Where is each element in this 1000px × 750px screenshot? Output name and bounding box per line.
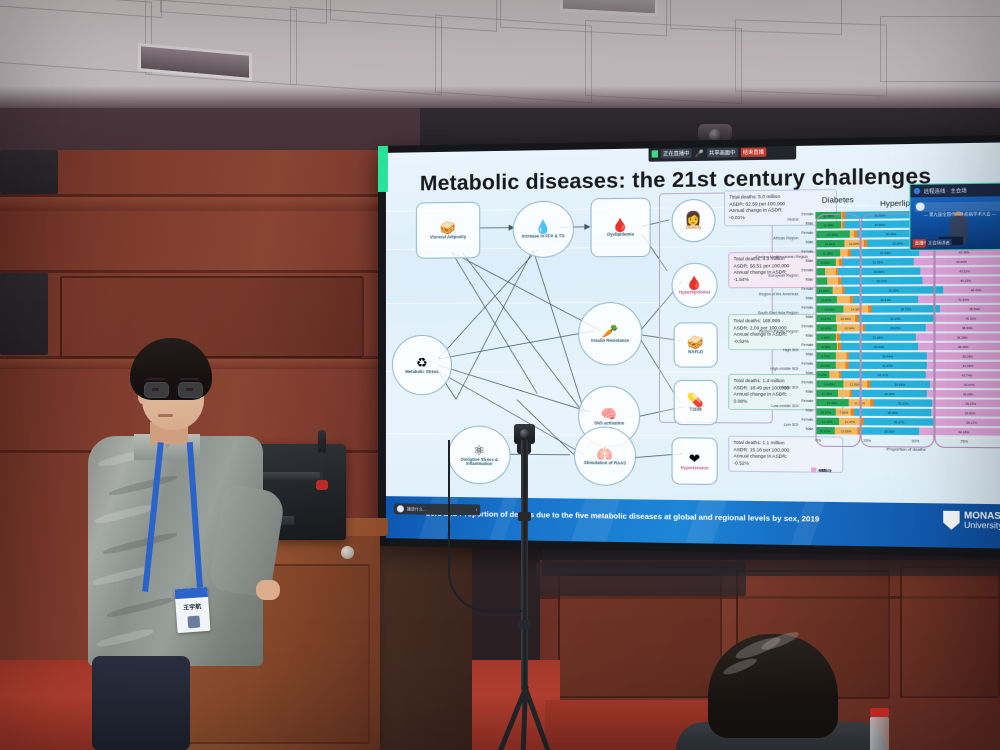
chart-bar-segment-hld: 28.25% bbox=[865, 324, 925, 332]
chart-row-label-sex: Female bbox=[802, 418, 814, 422]
chart-bar-segment-nafld: 12.05% bbox=[843, 380, 866, 388]
chart-bar-segment-obesity: 40.07% bbox=[930, 381, 1000, 389]
chart-row-label-sex: Female bbox=[802, 268, 814, 272]
chart-group-label: Western Pacific Region bbox=[756, 329, 799, 333]
chart-bar-segment-hld: 38.06% bbox=[854, 409, 931, 417]
chart-bar-segment-obesity: 46.43% bbox=[943, 286, 1000, 294]
chart-bar-segment-obesity: 42.74% bbox=[925, 371, 1000, 379]
pip-video-window[interactable]: 远程连线 · 主会场 — 第九届全国代谢性疾病学术大会 — 直播中 主会场讲者 bbox=[909, 182, 1000, 250]
chart-bar-segment-nafld bbox=[829, 371, 839, 379]
chart-bar-segment-dm: 12.24% bbox=[815, 287, 832, 295]
chart-row-label-sex: Female bbox=[802, 287, 814, 291]
chart-row-label-sex: Female bbox=[802, 306, 814, 310]
chart-bar-segment-nafld: 11.31% bbox=[849, 399, 871, 407]
chart-row-label-sex: Female bbox=[802, 343, 814, 347]
chart-row-label-sex: Female bbox=[802, 231, 814, 235]
wall-board-left-2 bbox=[0, 273, 48, 355]
chart-bar-segment-nafld: 11.47% bbox=[839, 418, 861, 426]
chart-bar-segment-obesity: 43.52% bbox=[920, 267, 1000, 275]
chart-bar-segment-hld: 36.25% bbox=[852, 390, 927, 398]
tripod-pole bbox=[521, 440, 528, 690]
outcome-node-hyperlipidemia: 🩸 Hyperlipidemia bbox=[672, 263, 718, 308]
chart-bar-segment-hld: 32.44% bbox=[841, 343, 918, 351]
chart-bar-segment-dm: 14.43% bbox=[815, 380, 843, 388]
chart-bar-row: 16.04%14.36%38.73%38.59%Female bbox=[815, 305, 1000, 313]
chart-group-label: High-middle SDI bbox=[756, 367, 799, 371]
screen-edge-glow bbox=[378, 146, 388, 192]
outcome-node-nafld: 🥪 NAFLD bbox=[674, 322, 718, 367]
chart-x-tick: 25% bbox=[863, 439, 871, 443]
chart-bar-segment-nafld: 10.35% bbox=[836, 315, 855, 323]
mic-icon[interactable]: 🎤 bbox=[695, 149, 704, 157]
microphone-base bbox=[316, 480, 328, 490]
chart-row-label-sex: Female bbox=[802, 249, 814, 253]
water-bottle bbox=[870, 716, 889, 750]
chart-row-label-sex: Male bbox=[806, 296, 814, 300]
chart-bar-segment-dm: 9.75% bbox=[815, 352, 836, 360]
outcome-node-obesity: 👩 Obesity bbox=[672, 199, 716, 243]
chart-row-label-sex: Male bbox=[806, 315, 814, 319]
chart-bar-segment-dm: 10.07% bbox=[815, 296, 837, 304]
end-stream-button[interactable]: 结束直播 bbox=[741, 147, 766, 157]
chart-bar-segment-nafld: 12.04% bbox=[837, 324, 863, 332]
legend-swatch bbox=[811, 467, 816, 472]
chart-bar-segment-dm bbox=[815, 277, 827, 285]
chart-column-title-diabetes: Diabetes bbox=[822, 195, 854, 205]
kidney-lung-icon: 🫁 bbox=[597, 447, 614, 460]
chart-bar-segment-obesity: 38.17% bbox=[934, 418, 1000, 426]
chart-bar-segment-dm: 11.23% bbox=[815, 390, 838, 398]
pip-status-dot bbox=[914, 188, 921, 194]
tripod-cable bbox=[448, 440, 522, 612]
chart-bar-segment-obesity: 38.59% bbox=[940, 305, 1000, 313]
chart-bar-segment-dm: 9.18% bbox=[815, 343, 836, 351]
pip-video-feed: — 第九届全国代谢性疾病学术大会 — 直播中 主会场讲者 bbox=[910, 196, 1000, 250]
chart-bar-segment-obesity: 38.05% bbox=[931, 409, 1000, 417]
chart-bar-segment-hld: 31.28% bbox=[840, 333, 915, 341]
chart-bar-segment-dm: 11.44% bbox=[815, 221, 841, 229]
chart-group-label: Low SDI bbox=[756, 422, 799, 426]
chart-bar-segment-obesity: 39.09% bbox=[927, 390, 1000, 398]
ceiling bbox=[0, 0, 1000, 118]
wall-board-left bbox=[0, 150, 58, 194]
chart-group-label: Middle SDI bbox=[756, 385, 799, 389]
monash-shield-icon bbox=[943, 511, 959, 530]
chart-row-label-sex: Male bbox=[806, 240, 814, 244]
metabolism-cycle-icon: ♻ bbox=[416, 356, 428, 369]
chart-bar-segment-nafld bbox=[836, 362, 846, 370]
fat-cell-icon: 🥪 bbox=[440, 221, 456, 234]
play-icon[interactable] bbox=[397, 505, 404, 512]
chart-bar-segment-obesity: 38.29% bbox=[918, 343, 1000, 351]
stream-status-chip: 正在直播中 bbox=[661, 149, 691, 159]
chart-bar-segment-hld: 43.47% bbox=[841, 371, 925, 379]
chart-bar-segment-dm: 10.64% bbox=[815, 362, 835, 370]
artery-plaque-icon: 🩸 bbox=[612, 218, 629, 231]
audience-member bbox=[698, 634, 928, 750]
pip-titlebar: 远程连线 · 主会场 bbox=[910, 183, 1000, 197]
monash-logo: MONASH University bbox=[943, 511, 1000, 531]
chart-row-label-sex: Male bbox=[806, 408, 814, 412]
chart-group-label: Eastern Mediterranean Region bbox=[756, 255, 799, 259]
chart-row-label-sex: Female bbox=[802, 324, 814, 328]
chart-x-tick: 50% bbox=[912, 439, 920, 443]
chart-bar-segment-dm: 10.37% bbox=[815, 408, 836, 416]
chart-row-label-sex: Male bbox=[806, 390, 814, 394]
chart-bar-segment-hld: 30.55% bbox=[845, 220, 915, 228]
chart-bar-segment-dm: 10.09% bbox=[815, 324, 836, 332]
diagram-node-dyslipidemia: 🩸 Dyslipidemia bbox=[591, 198, 651, 258]
chart-bar-segment-obesity: 38.59% bbox=[926, 324, 1000, 332]
chart-bar-row: 9.75%36.44%38.28%Male bbox=[815, 352, 1000, 360]
chart-bar-segment-dm: 11.38% bbox=[815, 249, 840, 257]
chart-bar-row: 40.84%43.52%Female bbox=[815, 267, 1000, 276]
chart-bar-segment-dm bbox=[815, 268, 825, 276]
diagram-node-metabolic-stress: ♻ Metabolic Stress bbox=[392, 335, 452, 395]
presenter-legs bbox=[92, 656, 190, 750]
artery-fat-icon: 🩸 bbox=[686, 276, 703, 289]
insulin-vial-icon: 💊 bbox=[687, 393, 704, 406]
badge-name: 王宇航 bbox=[175, 601, 209, 612]
chart-bar-segment-obesity: 42.48% bbox=[927, 362, 1000, 370]
pip-event-banner: — 第九届全国代谢性疾病学术大会 — bbox=[915, 201, 1000, 212]
chart-bar-segment-hld: 30.45% bbox=[870, 380, 930, 388]
water-bottle-cap bbox=[870, 708, 889, 717]
chart-bar-segment-hld: 30.05% bbox=[861, 427, 919, 435]
chart-row-label-sex: Male bbox=[806, 277, 814, 281]
chart-bar-segment-nafld bbox=[840, 249, 848, 257]
chart-bar-segment-nafld bbox=[837, 296, 850, 304]
chart-bar-row: 10.07%12.05%30.05%46.18%Male bbox=[815, 427, 1000, 436]
monash-wordmark: MONASH University bbox=[964, 511, 1000, 530]
chart-group-label: European Region bbox=[756, 273, 799, 277]
chart-group-label: Low-middle SDI bbox=[756, 404, 799, 408]
chart-row-label-sex: Female bbox=[802, 212, 814, 216]
chart-bar-row: 12.24%70.30%46.43%Female bbox=[815, 286, 1000, 295]
tripod-clamp-2 bbox=[518, 620, 531, 629]
chart-row-label-sex: Male bbox=[806, 259, 814, 263]
diagram-node-ffa-tg: 💧 Increase in FFA & TG bbox=[513, 201, 574, 258]
chart-bar-segment-hld: 32.23% bbox=[842, 258, 914, 266]
chart-bar-segment-nafld bbox=[827, 277, 838, 285]
chart-bar-segment-obesity: 42.40% bbox=[914, 257, 1000, 265]
chart-bar-segment-nafld bbox=[836, 352, 847, 360]
chart-bar-segment-obesity: 46.18% bbox=[919, 428, 1000, 436]
chart-bar-segment-obesity: 40.23% bbox=[922, 276, 1000, 284]
chart-bar-segment-dm: 15.34% bbox=[815, 240, 844, 248]
chart-bar-row: 10.07%30.44%41.44%Male bbox=[815, 295, 1000, 303]
audience-head bbox=[708, 634, 838, 738]
chart-legend-item: Obesity bbox=[811, 467, 832, 472]
chart-group-label: African Region bbox=[756, 236, 799, 241]
outcome-node-hypertension: ❤ Hypertension bbox=[672, 437, 718, 485]
chart-bar-row: 9.04%32.23%42.40%Male bbox=[815, 257, 1000, 266]
blood-pressure-icon: ❤ bbox=[689, 452, 700, 465]
chart-bar-segment-nafld bbox=[832, 287, 842, 295]
outcome-node-t2dm: 💊 T2DM bbox=[674, 380, 718, 425]
chart-bar-row: 7.12%43.47%42.74%Male bbox=[815, 371, 1000, 379]
nervous-system-icon: 🧠 bbox=[601, 407, 618, 420]
chart-bar-segment-hld: 40.84% bbox=[838, 267, 920, 275]
chart-bar-segment-nafld bbox=[825, 268, 835, 276]
obese-body-icon: 👩 bbox=[685, 211, 702, 225]
chart-bar-segment-hld: 30.23% bbox=[874, 399, 933, 407]
live-stream-overlay-bar[interactable]: 正在直播中 🎤 共享画面中 结束直播 bbox=[649, 144, 797, 162]
signal-icon bbox=[652, 150, 658, 157]
chart-bar-segment-hld: 38.73% bbox=[872, 305, 940, 313]
chart-bar-segment-hld: 41.15% bbox=[848, 362, 927, 370]
chart-bar-segment-dm: 17.12% bbox=[815, 230, 849, 238]
chart-bar-segment-hld: 38.27% bbox=[841, 277, 922, 285]
taskbar-label: 播放什么… bbox=[407, 506, 427, 512]
chart-x-tick: 75% bbox=[960, 440, 968, 444]
chart-bar-row: 10.37%7.62%38.06%38.05%Male bbox=[815, 408, 1000, 417]
chart-bar-row: 10.64%41.15%42.48%Female bbox=[815, 362, 1000, 370]
chart-row-label-sex: Male bbox=[806, 221, 814, 225]
chart-bar-segment-dm: 17.48% bbox=[815, 399, 848, 407]
chart-bar-segment-nafld: 12.05% bbox=[835, 427, 858, 435]
chart-bar-segment-hld: 40.25% bbox=[858, 315, 933, 323]
chart-bar-segment-hld: 36.44% bbox=[849, 352, 927, 360]
chart-row-label-sex: Male bbox=[806, 371, 814, 375]
diagram-node-insulin-resistance: 🥕 Insulin Resistance bbox=[578, 302, 642, 365]
liver-icon: 🥪 bbox=[687, 336, 704, 349]
chart-group-label: High SDI bbox=[756, 348, 799, 352]
chart-bar-row: 9.18%32.44%38.29%Female bbox=[815, 343, 1000, 351]
pancreas-icon: 🥕 bbox=[602, 324, 619, 337]
chart-bar-segment-hld: 30.44% bbox=[853, 296, 919, 304]
presenter-badge: 王宇航 bbox=[175, 587, 211, 633]
chart-row-label-sex: Female bbox=[802, 362, 814, 366]
chart-row-label-sex: Male bbox=[806, 334, 814, 338]
chart-bar-segment-hld: 36.07% bbox=[864, 418, 934, 426]
chart-bar-row: 10.09%12.04%28.25%38.59%Female bbox=[815, 324, 1000, 332]
chart-bar-segment-obesity: 38.28% bbox=[927, 352, 1000, 360]
pip-title: 远程连线 · 主会场 bbox=[924, 187, 967, 195]
chart-group-label: Region of the Americas bbox=[756, 292, 799, 296]
lecture-hall-photo: Metabolic diseases: the 21st century cha… bbox=[0, 0, 1000, 750]
chart-bar-segment-nafld bbox=[838, 390, 849, 398]
chart-bar-segment-dm: 10.07% bbox=[815, 427, 834, 435]
podium-microphone bbox=[318, 430, 326, 454]
chart-bar-segment-obesity: 39.07% bbox=[933, 399, 1000, 407]
chart-bar-segment-hld: 31.05% bbox=[845, 211, 915, 219]
chart-group-label: Global bbox=[756, 217, 799, 222]
chart-bar-segment-dm: 16.04% bbox=[815, 305, 843, 313]
presenter-hand bbox=[256, 580, 280, 600]
legend-label: Obesity bbox=[819, 468, 832, 472]
diagram-node-visceral-adiposity: 🥪 Visceral Adiposity bbox=[416, 202, 480, 259]
diagram-node-raas: 🫁 Stimulation of RAAS bbox=[574, 426, 636, 486]
chart-x-tick: 0% bbox=[815, 438, 821, 442]
chart-bar-segment-nafld: 7.62% bbox=[836, 408, 851, 416]
chart-bar-row: 14.43%12.05%30.45%40.07%Female bbox=[815, 380, 1000, 388]
badge-logo-icon bbox=[187, 616, 200, 629]
pip-emblem-icon bbox=[916, 202, 925, 210]
pip-speaker-tag: 主会场讲者 bbox=[926, 239, 952, 248]
chart-group-label: South-East Asia Region bbox=[756, 311, 799, 315]
chart-x-label: Proportion of deaths bbox=[887, 446, 926, 452]
chart-bar-segment-dm: 11.27% bbox=[815, 315, 836, 323]
screen-share-chip: 共享画面中 bbox=[707, 148, 738, 158]
chart-bar-segment-nafld: 14.36% bbox=[843, 305, 868, 313]
chart-bar-row: 38.27%40.23%Male bbox=[815, 276, 1000, 285]
chart-bar-row: 12.26%11.47%36.07%38.17%Female bbox=[815, 418, 1000, 427]
chart-row-label-sex: Male bbox=[806, 352, 814, 356]
chart-bar-segment-dm: 8.66% bbox=[815, 334, 836, 342]
chart-bar-segment-dm: 9.04% bbox=[815, 259, 835, 267]
chart-bar-row: 17.48%11.31%30.23%39.07%Female bbox=[815, 399, 1000, 408]
chart-bar-row: 8.66%31.28%38.28%Male bbox=[815, 333, 1000, 341]
chart-bar-row: 11.23%36.25%39.09%Male bbox=[815, 390, 1000, 399]
chart-bar-segment-obesity: 38.28% bbox=[916, 333, 1000, 341]
chart-row-label-sex: Female bbox=[802, 380, 814, 384]
presenter-mouth bbox=[158, 414, 173, 417]
chart-bar-segment-dm: 12.26% bbox=[815, 418, 838, 426]
chart-bar-segment-dm: 11.68% bbox=[815, 212, 841, 220]
podium-knob bbox=[341, 546, 354, 559]
presenter-glasses bbox=[142, 382, 204, 397]
chart-bar-segment-hld: 70.30% bbox=[845, 286, 944, 294]
chart-row-label-sex: Male bbox=[806, 427, 814, 431]
chart-bar-segment-nafld: 10.29% bbox=[844, 240, 864, 248]
molecules-icon: 💧 bbox=[535, 220, 552, 233]
presenter: 王宇航 bbox=[88, 338, 278, 750]
chart-bar-segment-dm: 7.12% bbox=[815, 371, 829, 379]
badge-header bbox=[175, 587, 209, 599]
chart-row-label-sex: Female bbox=[802, 399, 814, 403]
chart-bar-segment-obesity: 40.52% bbox=[933, 314, 1000, 322]
chart-bar-segment-obesity: 41.44% bbox=[919, 295, 1000, 303]
chart-bar-row: 11.27%10.35%40.25%40.52%Male bbox=[815, 314, 1000, 322]
tripod-camera-lens bbox=[520, 429, 529, 438]
